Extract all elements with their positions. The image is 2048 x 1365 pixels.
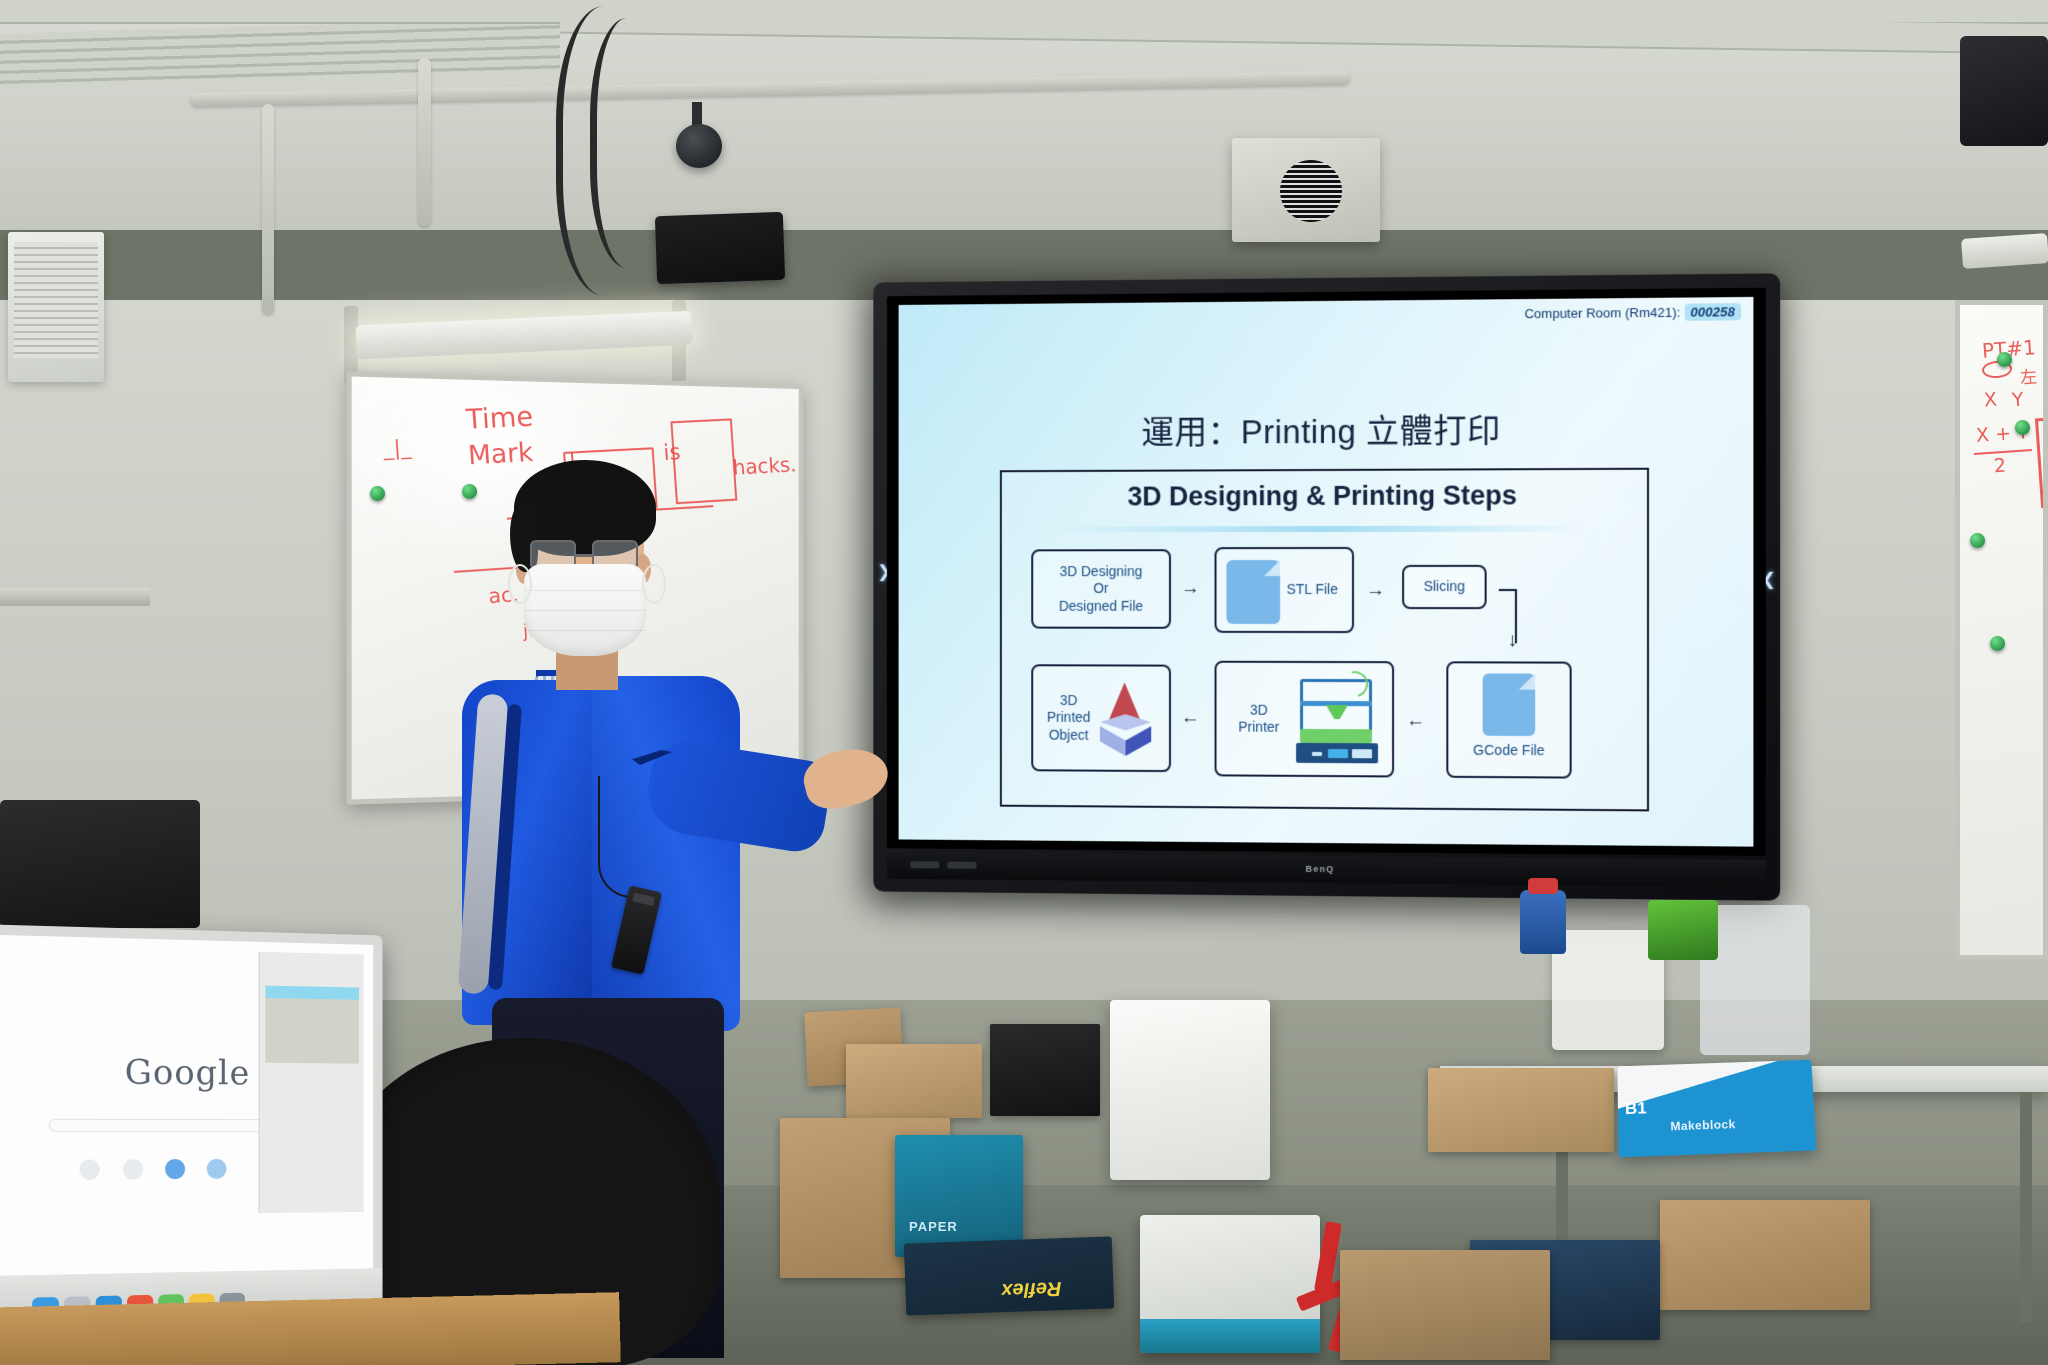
flow-node-label: Slicing — [1424, 578, 1466, 595]
ceiling-pipe — [262, 104, 274, 314]
cardboard-box — [846, 1044, 982, 1118]
ir-sensor-icon — [910, 861, 939, 868]
display-screen[interactable]: Computer Room (Rm421): 000258 運用：Printin… — [887, 288, 1766, 856]
water-bottle — [1520, 890, 1566, 954]
ceiling-pipe — [418, 58, 431, 226]
slide-counter-badge: 000258 — [1684, 303, 1741, 321]
white-package — [1110, 1000, 1270, 1180]
wall-speaker — [1232, 138, 1380, 242]
cardboard-box — [1428, 1068, 1614, 1152]
window-sill — [0, 588, 150, 606]
object-right-face — [1126, 726, 1152, 756]
magnet-icon — [2015, 420, 2030, 435]
3d-object-icon — [1094, 682, 1155, 760]
printer-keypad-icon — [1352, 749, 1372, 758]
mask-fold — [524, 630, 646, 631]
object-left-face — [1100, 726, 1126, 756]
microphone-wire — [598, 776, 632, 898]
flow-node-stl[interactable]: STL File — [1215, 547, 1354, 633]
flow-arrow-left-icon: ← — [1181, 708, 1200, 727]
document-icon — [1483, 673, 1536, 736]
flow-node-label: STL File — [1286, 581, 1338, 598]
flow-arrow-right-icon: → — [1366, 581, 1385, 600]
flow-node-printer[interactable]: 3D Printer — [1215, 661, 1395, 778]
mask-strap — [642, 564, 666, 604]
shortcut-tile[interactable] — [207, 1159, 227, 1179]
side-panel[interactable] — [259, 952, 364, 1213]
benq-display[interactable]: ❯ ❮ Computer Room (Rm421): 000258 運用：Pri… — [873, 273, 1780, 900]
whiteboard-note: Time — [465, 401, 534, 435]
bottle-cap — [1528, 878, 1558, 894]
mask-fold — [524, 590, 646, 591]
magnet-icon — [1970, 533, 1985, 548]
printer-led-icon — [1312, 752, 1322, 756]
magnet-icon — [370, 486, 385, 501]
bin-label: PAPER — [909, 1219, 958, 1234]
printer-screen-icon — [1328, 749, 1348, 758]
ac-vent-icon — [14, 242, 98, 358]
display-bezel-bottom: BenQ — [887, 852, 1766, 887]
microphone-clip — [632, 893, 654, 906]
shortcut-tile[interactable] — [165, 1159, 185, 1179]
steps-panel: 3D Designing & Printing Steps 3D Designi… — [1000, 468, 1649, 812]
flow-arrow-down-icon: ↓ — [1508, 631, 1518, 650]
box-brand-label: Reflex — [1001, 1276, 1062, 1301]
box-brand-label: Makeblock — [1670, 1117, 1736, 1133]
flow-node-object[interactable]: 3D Printed Object — [1031, 664, 1171, 772]
document-icon — [1226, 560, 1280, 624]
flow-node-slicing[interactable]: Slicing — [1402, 565, 1487, 609]
flow-node-label: 3D Printer — [1238, 701, 1279, 736]
background-monitor — [0, 800, 200, 928]
cardboard-box — [1340, 1250, 1550, 1360]
whiteboard-right: PT#1 左 X Y X + Y 2 — [1955, 300, 2048, 960]
panel-underline — [1057, 525, 1586, 532]
whiteboard-note: 左 — [2019, 362, 2038, 388]
paper-bin: PAPER — [895, 1135, 1023, 1257]
air-conditioner — [8, 232, 104, 382]
mask-strap — [508, 564, 532, 604]
ceiling-camera-icon — [676, 124, 722, 168]
ir-sensor-icon — [947, 862, 976, 869]
document-thumbnail[interactable] — [265, 986, 359, 1064]
green-pouch — [1648, 900, 1718, 960]
room-label: Computer Room (Rm421): — [1525, 305, 1681, 322]
whiteboard-note: X — [1983, 389, 1998, 412]
classroom-scene: Time Mark is hacks. Premiere ac. jetson … — [0, 0, 2048, 1365]
flow-node-label: GCode File — [1473, 742, 1545, 760]
computer-screen[interactable]: Google — [0, 935, 373, 1276]
flow-node-label: 3D Printed Object — [1047, 692, 1091, 744]
ceiling-speaker — [655, 212, 785, 284]
slide-title: 運用：Printing 立體打印 — [899, 402, 1754, 454]
panel-title: 3D Designing & Printing Steps — [1002, 480, 1647, 513]
flow-arrow-left-icon: ← — [1406, 711, 1425, 730]
printer-bed — [1300, 729, 1372, 743]
table-leg — [2020, 1092, 2032, 1322]
3d-printer-icon — [1294, 675, 1380, 767]
reflex-box: Reflex — [904, 1236, 1114, 1315]
magnet-icon — [1990, 636, 2005, 651]
flow-arrow-right-icon: → — [1181, 579, 1200, 598]
benq-logo: BenQ — [1305, 864, 1334, 874]
eyeglasses-bridge — [576, 554, 592, 557]
shortcut-tile[interactable] — [123, 1159, 143, 1179]
dark-bag — [990, 1024, 1100, 1116]
whiteboard-sketch — [2035, 416, 2048, 509]
speaker-grille-icon — [1280, 160, 1342, 222]
whiteboard-lamp-right — [1961, 233, 2048, 269]
whiteboard-sketch: _|_ — [382, 435, 412, 461]
box-code-label: B1 — [1625, 1099, 1647, 1119]
mask-fold — [524, 610, 646, 611]
makeblock-box: B1 Makeblock — [1617, 1060, 1816, 1158]
presentation-slide[interactable]: Computer Room (Rm421): 000258 運用：Printin… — [899, 297, 1754, 847]
whiteboard-note: Y — [2011, 389, 2024, 412]
flow-node-gcode[interactable]: GCode File — [1446, 661, 1571, 778]
shortcut-tile[interactable] — [80, 1159, 100, 1179]
wall-speaker-right — [1960, 36, 2048, 146]
google-logo: Google — [125, 1052, 251, 1093]
slide-header: Computer Room (Rm421): 000258 — [1525, 303, 1742, 322]
flow-node-label: 3D Designing Or Designed File — [1059, 563, 1143, 615]
magnet-icon — [1997, 352, 2012, 367]
face-mask — [524, 564, 646, 656]
whiteboard-note: 2 — [1993, 455, 2007, 478]
foreground-computer[interactable]: Google — [0, 924, 383, 1336]
cardboard-box — [1660, 1200, 1870, 1310]
flow-node-design[interactable]: 3D Designing Or Designed File — [1031, 549, 1171, 629]
